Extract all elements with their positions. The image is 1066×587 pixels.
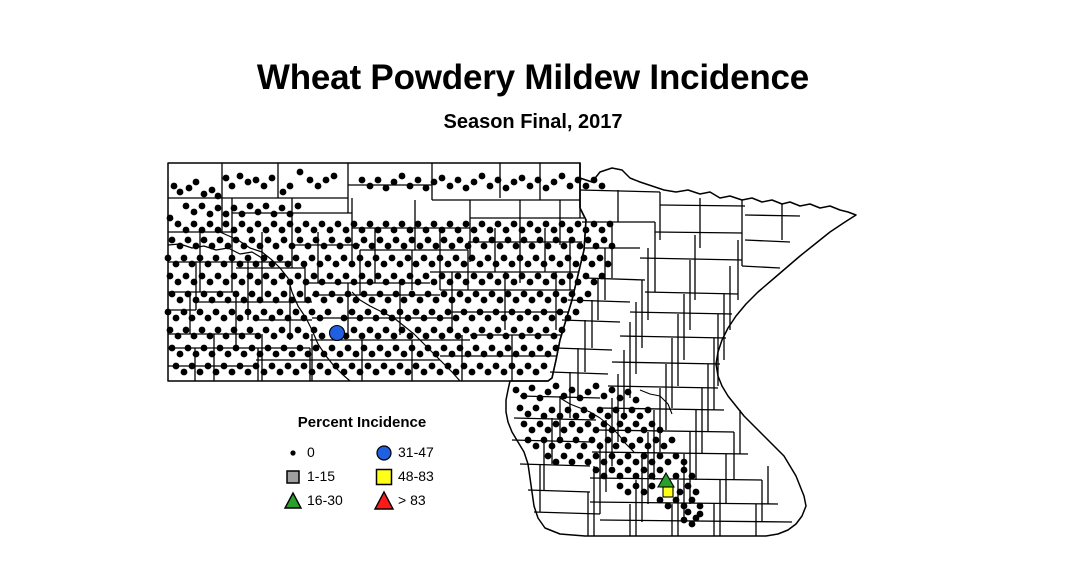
survey-point xyxy=(645,407,652,414)
survey-point xyxy=(511,179,518,186)
survey-point xyxy=(543,327,550,334)
survey-point xyxy=(261,183,268,190)
survey-point xyxy=(341,369,348,376)
survey-point xyxy=(349,261,356,268)
survey-point xyxy=(585,459,592,466)
survey-point xyxy=(319,221,326,228)
survey-point xyxy=(583,227,590,234)
survey-point xyxy=(625,467,632,474)
survey-point xyxy=(207,211,214,218)
survey-point xyxy=(293,255,300,262)
survey-point xyxy=(367,183,374,190)
survey-point xyxy=(605,437,612,444)
survey-point xyxy=(633,397,640,404)
survey-point xyxy=(329,291,336,298)
survey-point xyxy=(561,393,568,400)
survey-point xyxy=(617,459,624,466)
survey-point xyxy=(461,363,468,370)
survey-point xyxy=(485,369,492,376)
survey-point xyxy=(471,227,478,234)
survey-point xyxy=(519,175,526,182)
survey-point xyxy=(569,387,576,394)
survey-point xyxy=(199,227,206,234)
survey-point xyxy=(245,309,252,316)
survey-point xyxy=(309,309,316,316)
survey-point xyxy=(297,291,304,298)
survey-point xyxy=(369,243,376,250)
survey-point xyxy=(389,369,396,376)
survey-point xyxy=(231,327,238,334)
survey-point xyxy=(609,387,616,394)
survey-point xyxy=(323,177,330,184)
survey-point xyxy=(573,261,580,268)
survey-point xyxy=(439,333,446,340)
survey-point xyxy=(441,291,448,298)
survey-point xyxy=(317,363,324,370)
survey-point xyxy=(317,261,324,268)
survey-point xyxy=(213,255,220,262)
survey-point xyxy=(455,177,462,184)
survey-point xyxy=(497,297,504,304)
survey-point xyxy=(529,385,536,392)
survey-point xyxy=(293,309,300,316)
survey-point xyxy=(509,261,516,268)
survey-point xyxy=(681,517,688,524)
survey-point xyxy=(383,279,390,286)
green-triangle-icon xyxy=(282,489,304,511)
survey-point xyxy=(453,255,460,262)
survey-point xyxy=(241,351,248,358)
survey-point xyxy=(439,273,446,280)
survey-point xyxy=(401,297,408,304)
yellow-square-icon xyxy=(373,465,395,487)
survey-point xyxy=(397,363,404,370)
survey-point xyxy=(477,261,484,268)
survey-point xyxy=(433,297,440,304)
survey-point xyxy=(369,297,376,304)
survey-point xyxy=(681,503,688,510)
survey-point xyxy=(373,255,380,262)
survey-point-highlighted xyxy=(658,473,674,487)
survey-point xyxy=(263,273,270,280)
survey-point xyxy=(319,279,326,286)
survey-point xyxy=(433,243,440,250)
survey-point xyxy=(625,489,632,496)
survey-point xyxy=(453,315,460,322)
survey-point xyxy=(525,363,532,370)
survey-point xyxy=(373,315,380,322)
survey-point xyxy=(431,279,438,286)
survey-point xyxy=(621,413,628,420)
survey-point xyxy=(495,327,502,334)
survey-point xyxy=(393,237,400,244)
survey-point xyxy=(569,459,576,466)
survey-point xyxy=(497,243,504,250)
survey-point xyxy=(519,227,526,234)
survey-point xyxy=(249,237,256,244)
survey-point xyxy=(271,221,278,228)
legend-item-0: 0 xyxy=(282,440,343,464)
survey-point xyxy=(351,327,358,334)
survey-point xyxy=(391,333,398,340)
survey-point xyxy=(565,315,572,322)
survey-point xyxy=(441,345,448,352)
survey-point xyxy=(181,255,188,262)
survey-point xyxy=(337,243,344,250)
survey-point xyxy=(253,315,260,322)
survey-point xyxy=(471,273,478,280)
survey-point xyxy=(209,351,216,358)
legend-label-1-15: 1-15 xyxy=(307,469,335,483)
survey-point xyxy=(431,179,438,186)
survey-point xyxy=(185,345,192,352)
survey-point xyxy=(517,255,524,262)
survey-point xyxy=(481,351,488,358)
survey-point xyxy=(561,427,568,434)
survey-point xyxy=(469,315,476,322)
legend-item-1-15: 1-15 xyxy=(282,464,343,488)
survey-point xyxy=(479,327,486,334)
survey-point xyxy=(573,413,580,420)
survey-point xyxy=(173,315,180,322)
survey-point xyxy=(599,273,606,280)
survey-point xyxy=(209,187,216,194)
survey-point xyxy=(641,467,648,474)
survey-point xyxy=(287,183,294,190)
survey-point xyxy=(255,209,262,216)
survey-point xyxy=(469,255,476,262)
survey-point xyxy=(487,183,494,190)
survey-point xyxy=(301,315,308,322)
survey-point xyxy=(601,459,608,466)
survey-point xyxy=(601,421,608,428)
survey-point xyxy=(241,297,248,304)
survey-point xyxy=(309,369,316,376)
survey-point xyxy=(541,261,548,268)
survey-point xyxy=(293,369,300,376)
survey-point xyxy=(257,351,264,358)
survey-point xyxy=(261,309,268,316)
survey-point xyxy=(697,511,704,518)
survey-point xyxy=(537,395,544,402)
survey-point xyxy=(345,237,352,244)
survey-point xyxy=(471,333,478,340)
survey-point xyxy=(255,279,262,286)
survey-point xyxy=(281,291,288,298)
survey-point xyxy=(215,327,222,334)
survey-point xyxy=(575,177,582,184)
survey-point xyxy=(215,227,222,234)
survey-point xyxy=(345,345,352,352)
survey-point xyxy=(597,443,604,450)
survey-point xyxy=(521,237,528,244)
survey-point xyxy=(225,297,232,304)
survey-point xyxy=(309,255,316,262)
survey-point xyxy=(375,333,382,340)
survey-point xyxy=(197,309,204,316)
survey-point xyxy=(221,261,228,268)
survey-point xyxy=(249,345,256,352)
survey-point xyxy=(231,227,238,234)
survey-point xyxy=(335,221,342,228)
survey-point xyxy=(549,407,556,414)
survey-point xyxy=(521,291,528,298)
survey-point xyxy=(543,185,550,192)
survey-point xyxy=(193,243,200,250)
survey-point xyxy=(665,459,672,466)
survey-point xyxy=(375,177,382,184)
survey-point xyxy=(367,221,374,228)
survey-point xyxy=(331,173,338,180)
survey-point xyxy=(307,177,314,184)
survey-point xyxy=(325,255,332,262)
survey-point xyxy=(589,437,596,444)
survey-point xyxy=(513,387,520,394)
survey-point xyxy=(397,261,404,268)
survey-point xyxy=(521,421,528,428)
survey-point xyxy=(511,327,518,334)
survey-point xyxy=(479,279,486,286)
survey-point xyxy=(393,291,400,298)
survey-point xyxy=(417,297,424,304)
survey-point xyxy=(525,309,532,316)
survey-point xyxy=(685,483,692,490)
survey-point xyxy=(425,237,432,244)
survey-point xyxy=(229,309,236,316)
survey-point xyxy=(495,279,502,286)
survey-point xyxy=(181,369,188,376)
survey-point xyxy=(247,327,254,334)
survey-point xyxy=(271,211,278,218)
survey-point xyxy=(231,273,238,280)
survey-point xyxy=(535,227,542,234)
survey-point xyxy=(255,333,262,340)
small-dot-icon xyxy=(282,441,304,463)
survey-point xyxy=(573,309,580,316)
survey-point xyxy=(421,255,428,262)
survey-point xyxy=(415,221,422,228)
survey-point xyxy=(535,273,542,280)
survey-point xyxy=(167,215,174,222)
survey-point xyxy=(549,315,556,322)
survey-point xyxy=(431,221,438,228)
survey-point xyxy=(279,273,286,280)
survey-point xyxy=(561,453,568,460)
survey-point xyxy=(367,327,374,334)
survey-point xyxy=(193,297,200,304)
survey-point xyxy=(169,291,176,298)
survey-point xyxy=(223,211,230,218)
survey-point xyxy=(357,369,364,376)
survey-point xyxy=(449,297,456,304)
survey-point xyxy=(441,237,448,244)
survey-point xyxy=(281,345,288,352)
survey-point xyxy=(201,345,208,352)
survey-point xyxy=(473,345,480,352)
survey-point xyxy=(287,333,294,340)
survey-point xyxy=(375,273,382,280)
survey-point xyxy=(463,279,470,286)
survey-point xyxy=(629,407,636,414)
survey-point xyxy=(237,261,244,268)
survey-point xyxy=(381,309,388,316)
survey-point xyxy=(343,273,350,280)
survey-point xyxy=(525,261,532,268)
survey-point xyxy=(629,443,636,450)
survey-point xyxy=(209,243,216,250)
survey-point xyxy=(233,345,240,352)
survey-point xyxy=(607,221,614,228)
survey-point xyxy=(289,297,296,304)
survey-point xyxy=(533,255,540,262)
survey-point xyxy=(239,333,246,340)
survey-point xyxy=(527,279,534,286)
survey-point xyxy=(333,261,340,268)
survey-point xyxy=(173,363,180,370)
survey-point xyxy=(589,413,596,420)
survey-point xyxy=(165,309,172,316)
survey-point xyxy=(321,243,328,250)
survey-point xyxy=(613,443,620,450)
survey-point xyxy=(559,279,566,286)
survey-point xyxy=(601,393,608,400)
survey-point xyxy=(489,291,496,298)
survey-point xyxy=(693,489,700,496)
survey-point xyxy=(297,169,304,176)
survey-point xyxy=(541,309,548,316)
survey-point xyxy=(377,237,384,244)
survey-point xyxy=(361,237,368,244)
survey-point xyxy=(401,351,408,358)
survey-point xyxy=(279,205,286,212)
survey-point xyxy=(537,237,544,244)
survey-point xyxy=(599,227,606,234)
survey-point xyxy=(385,351,392,358)
survey-point xyxy=(573,437,580,444)
survey-point xyxy=(513,351,520,358)
survey-point xyxy=(215,205,222,212)
survey-point xyxy=(423,273,430,280)
survey-point xyxy=(423,185,430,192)
survey-point xyxy=(463,221,470,228)
survey-point xyxy=(503,227,510,234)
survey-point xyxy=(457,237,464,244)
survey-point xyxy=(625,427,632,434)
survey-point xyxy=(493,309,500,316)
survey-point xyxy=(417,243,424,250)
survey-point xyxy=(437,315,444,322)
survey-point xyxy=(233,237,240,244)
survey-point xyxy=(673,453,680,460)
survey-point xyxy=(465,243,472,250)
survey-point xyxy=(389,315,396,322)
survey-point xyxy=(503,273,510,280)
survey-point xyxy=(287,279,294,286)
survey-point xyxy=(271,279,278,286)
survey-point xyxy=(649,483,656,490)
survey-point xyxy=(511,279,518,286)
survey-point xyxy=(463,327,470,334)
map-page: Wheat Powdery Mildew Incidence Season Fi… xyxy=(0,0,1066,587)
survey-point xyxy=(473,291,480,298)
survey-point xyxy=(239,211,246,218)
survey-point xyxy=(271,333,278,340)
survey-point xyxy=(297,237,304,244)
survey-point xyxy=(513,297,520,304)
survey-point xyxy=(577,453,584,460)
survey-point xyxy=(191,221,198,228)
survey-point xyxy=(533,315,540,322)
survey-point xyxy=(269,175,276,182)
survey-point xyxy=(337,351,344,358)
survey-point xyxy=(415,177,422,184)
survey-point xyxy=(433,351,440,358)
survey-point xyxy=(559,327,566,334)
red-triangle-icon xyxy=(373,489,395,511)
survey-point xyxy=(383,221,390,228)
survey-point xyxy=(447,221,454,228)
survey-point xyxy=(407,273,414,280)
survey-point xyxy=(519,273,526,280)
survey-point xyxy=(191,279,198,286)
survey-point xyxy=(289,351,296,358)
survey-point xyxy=(553,345,560,352)
survey-point xyxy=(265,345,272,352)
survey-point xyxy=(455,273,462,280)
survey-point xyxy=(447,183,454,190)
survey-point xyxy=(481,297,488,304)
survey-point xyxy=(311,273,318,280)
survey-point xyxy=(321,297,328,304)
survey-point xyxy=(185,291,192,298)
survey-point xyxy=(617,473,624,480)
survey-point xyxy=(197,369,204,376)
survey-point xyxy=(597,255,604,262)
survey-point xyxy=(625,453,632,460)
survey-point xyxy=(367,279,374,286)
survey-point xyxy=(333,363,340,370)
survey-point xyxy=(463,185,470,192)
survey-point xyxy=(561,243,568,250)
survey-point xyxy=(399,173,406,180)
survey-point xyxy=(263,227,270,234)
survey-point xyxy=(409,291,416,298)
survey-point xyxy=(529,351,536,358)
legend: Percent Incidence 0 1-15 16-30 xyxy=(278,414,468,510)
survey-point xyxy=(377,345,384,352)
survey-point xyxy=(429,261,436,268)
survey-point xyxy=(273,297,280,304)
survey-point xyxy=(241,243,248,250)
survey-point xyxy=(257,243,264,250)
survey-point xyxy=(581,443,588,450)
survey-point xyxy=(407,227,414,234)
survey-point xyxy=(279,227,286,234)
survey-point xyxy=(439,175,446,182)
survey-point xyxy=(437,369,444,376)
survey-point xyxy=(657,453,664,460)
survey-point xyxy=(223,175,230,182)
survey-point xyxy=(305,297,312,304)
survey-point xyxy=(577,297,584,304)
survey-point xyxy=(345,291,352,298)
survey-point xyxy=(551,227,558,234)
survey-point xyxy=(233,291,240,298)
survey-point xyxy=(335,279,342,286)
legend-label-31-47: 31-47 xyxy=(398,445,434,459)
survey-point xyxy=(521,393,528,400)
survey-point xyxy=(575,279,582,286)
